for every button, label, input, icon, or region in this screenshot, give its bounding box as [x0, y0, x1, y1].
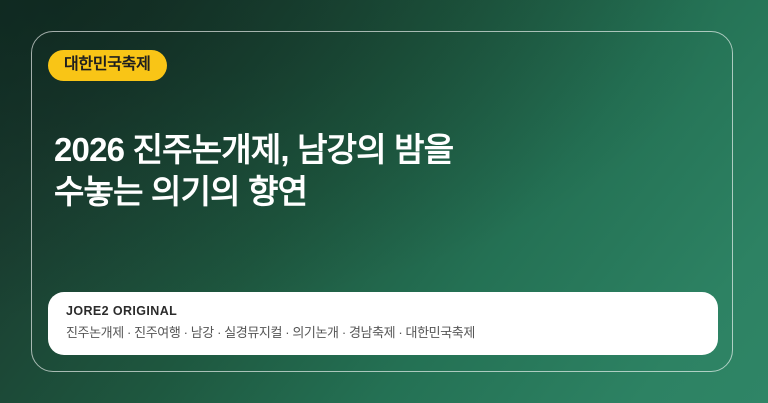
tag-list: 진주논개제 · 진주여행 · 남강 · 실경뮤지컬 · 의기논개 · 경남축제 …	[66, 324, 700, 342]
page-title-line-2: 수놓는 의기의 향연	[54, 171, 453, 213]
festival-poster: 대한민국축제 2026 진주논개제, 남강의 밤을 수놓는 의기의 향연 JOR…	[0, 0, 768, 403]
page-title-line-1: 2026 진주논개제, 남강의 밤을	[54, 129, 453, 171]
info-card: JORE2 ORIGINAL 진주논개제 · 진주여행 · 남강 · 실경뮤지컬…	[48, 292, 718, 355]
page-title: 2026 진주논개제, 남강의 밤을 수놓는 의기의 향연	[54, 129, 453, 213]
category-badge: 대한민국축제	[48, 50, 167, 81]
brand-label: JORE2 ORIGINAL	[66, 303, 700, 319]
poster-content: 대한민국축제 2026 진주논개제, 남강의 밤을 수놓는 의기의 향연 JOR…	[48, 31, 718, 372]
